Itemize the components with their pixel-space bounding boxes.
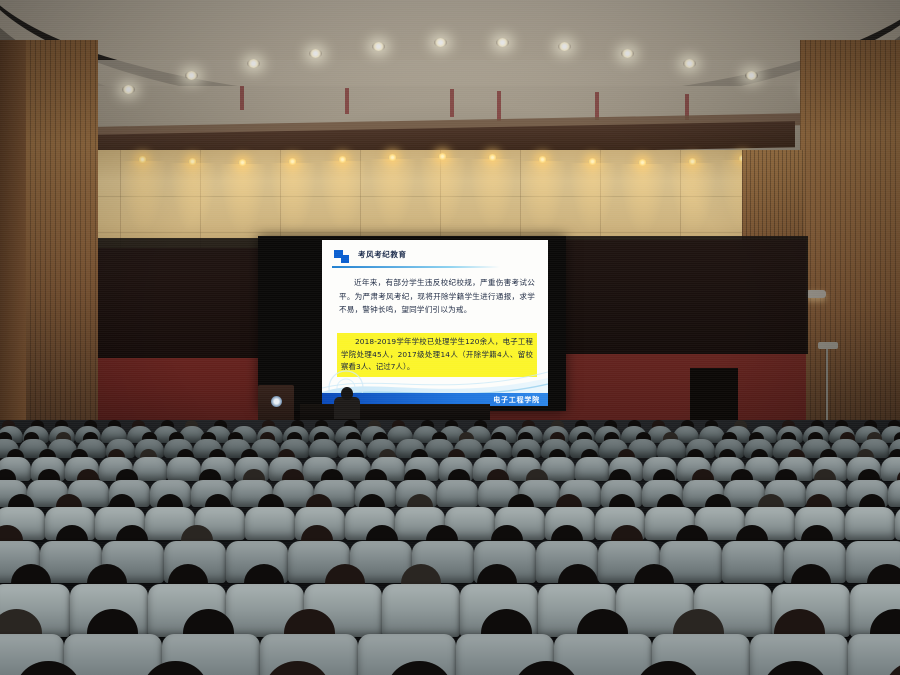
projected-slide: 考风考纪教育 近年来，有部分学生违反校纪校规，严重伤害考试公平。为严肃考风考纪，… (322, 240, 548, 406)
auditorium-photo: 考风考纪教育 近年来，有部分学生违反校纪校规，严重伤害考试公平。为严肃考风考纪，… (0, 0, 900, 675)
audience-seat (575, 457, 609, 480)
light-stand-head (818, 342, 838, 349)
light-stand-pole (826, 348, 828, 428)
ceiling-spotlight (372, 42, 385, 51)
ceiling-downlight (388, 154, 397, 161)
audience-seat (845, 507, 895, 541)
slide-title: 考风考纪教育 (358, 249, 407, 260)
ceiling-spotlight (185, 71, 198, 80)
downlight-pool (370, 159, 416, 229)
ceiling-spotlight (621, 49, 634, 58)
audience-seat (848, 634, 900, 675)
downlight-pool (320, 161, 366, 231)
downlight-pool (520, 161, 566, 231)
ceiling-downlight (688, 158, 697, 165)
stage-dark-panel-left (98, 238, 258, 358)
downlight-pool (570, 163, 616, 233)
audience-seat (245, 507, 295, 541)
ceiling-spotlight (683, 59, 696, 68)
downlight-pool (620, 164, 666, 234)
podium-emblem-icon (271, 396, 282, 407)
downlight-pool (120, 161, 166, 231)
audience-seat (722, 541, 784, 583)
downlight-pool (270, 163, 316, 233)
ceiling-beam-mark (450, 89, 454, 117)
ceiling-downlight (138, 156, 147, 163)
downlight-pool (220, 164, 266, 234)
audience-seat (167, 457, 201, 480)
downlight-pool (420, 158, 466, 228)
downlight-pool (470, 159, 516, 229)
slide-logo-icon (334, 250, 349, 263)
audience-seat (64, 634, 162, 675)
ceiling-spotlight (247, 59, 260, 68)
left-wall-column (0, 40, 26, 470)
ceiling-beam-mark (595, 92, 599, 120)
right-wood-slat-wall (800, 40, 900, 470)
slide-footer-label: 电子工程学院 (493, 395, 540, 405)
ceiling-beam-mark (497, 91, 501, 121)
speaker-person-head (341, 387, 353, 400)
speaker-person-body (334, 397, 360, 419)
audience-seat (382, 584, 460, 637)
downlight-pool (670, 163, 716, 233)
audience-seat (657, 439, 686, 458)
audience-seat (437, 480, 478, 507)
ceiling-downlight (288, 158, 297, 165)
stage-dark-panel-right (560, 236, 808, 354)
slide-body-text: 近年来，有部分学生违反校纪校规，严重伤害考试公平。为严肃考风考纪，现将开除学籍学… (339, 276, 535, 317)
downlight-pool (170, 163, 216, 233)
ceiling-downlight (338, 156, 347, 163)
audience-area (0, 420, 900, 675)
ceiling-spot-right-1 (806, 290, 826, 298)
audience-seat (309, 439, 338, 458)
ceiling-beam-mark (345, 88, 349, 114)
ceiling-downlight (638, 159, 647, 166)
ceiling-beam-mark (240, 86, 244, 110)
ceiling-downlight (438, 153, 447, 160)
slide-title-rule (332, 266, 500, 268)
ceiling-downlight (238, 159, 247, 166)
